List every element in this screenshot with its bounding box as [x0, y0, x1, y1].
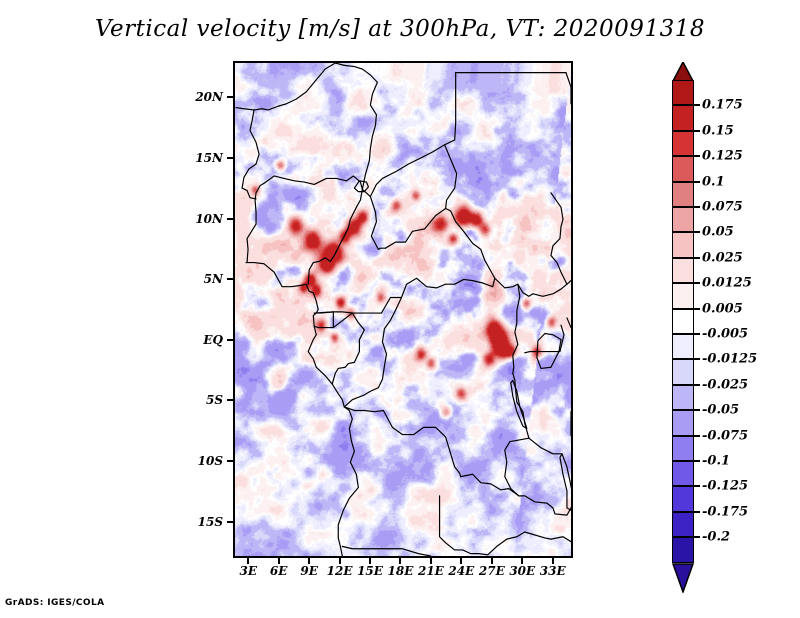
- country-border-path: [362, 69, 377, 189]
- country-borders-overlay: [235, 63, 571, 556]
- country-border-path: [511, 380, 527, 428]
- colorbar-tick-mark: [694, 384, 700, 386]
- colorbar-bin: [672, 385, 694, 410]
- x-axis-tick-mark: [521, 558, 523, 564]
- country-border-path: [332, 313, 364, 384]
- country-border-path: [381, 209, 494, 314]
- country-border-path: [264, 176, 362, 189]
- colorbar-tick-label: 0.025: [702, 250, 743, 265]
- colorbar-bin: [672, 156, 694, 181]
- x-axis-tick-mark: [552, 558, 554, 564]
- colorbar-tick-label: -0.125: [702, 479, 748, 494]
- colorbar-tick-label: -0.075: [702, 428, 748, 443]
- colorbar-tick-label: 0.1: [702, 174, 725, 189]
- x-axis-tick-label: 12E: [327, 564, 353, 578]
- country-border-path: [529, 438, 562, 454]
- colorbar-tick-label: -0.025: [702, 377, 748, 392]
- colorbar-tick-label: -0.2: [702, 530, 730, 545]
- x-axis-tick-label: 6E: [270, 564, 288, 578]
- colorbar-bin: [672, 207, 694, 232]
- country-border-path: [551, 537, 571, 542]
- country-border-path: [461, 474, 555, 514]
- colorbar-tick-mark: [694, 308, 700, 310]
- colorbar-tick-mark: [694, 181, 700, 183]
- x-axis-tick-label: 27E: [479, 564, 505, 578]
- colorbar-top-arrow: [672, 62, 694, 82]
- colorbar-tick-label: 0.005: [702, 301, 743, 316]
- colorbar-tick-mark: [694, 130, 700, 132]
- country-border-path: [551, 193, 567, 284]
- colorbar-bin: [672, 283, 694, 308]
- y-axis-tick-label: EQ: [195, 333, 223, 347]
- colorbar-tick-label: -0.005: [702, 327, 748, 342]
- colorbar-bin: [672, 182, 694, 207]
- x-axis-tick-mark: [369, 558, 371, 564]
- country-border-path: [525, 325, 564, 353]
- footer-credit: GrADS: IGES/COLA: [5, 598, 105, 608]
- colorbar-tick-label: -0.0125: [702, 352, 757, 367]
- x-axis-tick-mark: [247, 558, 249, 564]
- colorbar-bin: [672, 537, 694, 562]
- colorbar-tick-label: 0.175: [702, 98, 743, 113]
- country-border-path: [445, 145, 457, 209]
- colorbar-bin: [672, 359, 694, 384]
- colorbar-tick-mark: [694, 409, 700, 411]
- colorbar-tick-mark: [694, 333, 700, 335]
- colorbar: 0.1750.150.1250.10.0750.050.0250.01250.0…: [672, 62, 792, 562]
- x-axis-tick-mark: [460, 558, 462, 564]
- x-axis-tick-label: 33E: [540, 564, 566, 578]
- y-axis-tick-label: 15S: [195, 515, 223, 529]
- y-axis-tick-mark: [227, 521, 233, 523]
- colorbar-tick-mark: [694, 536, 700, 538]
- x-axis-tick-mark: [278, 558, 280, 564]
- country-border-path: [242, 110, 259, 199]
- y-axis-tick-mark: [227, 218, 233, 220]
- y-axis-tick-label: 10N: [195, 212, 223, 226]
- country-border-path: [495, 278, 533, 296]
- colorbar-tick-label: -0.1: [702, 454, 730, 469]
- x-axis-tick-label: 15E: [357, 564, 383, 578]
- colorbar-bin: [672, 80, 694, 105]
- y-axis-tick-mark: [227, 278, 233, 280]
- x-axis-tick-mark: [339, 558, 341, 564]
- y-axis-tick-label: 10S: [195, 454, 223, 468]
- x-axis-tick-label: 30E: [509, 564, 535, 578]
- colorbar-tick-mark: [694, 485, 700, 487]
- colorbar-tick-mark: [694, 460, 700, 462]
- x-axis-tick-mark: [399, 558, 401, 564]
- y-axis-tick-label: 5N: [195, 272, 223, 286]
- colorbar-tick-mark: [694, 282, 700, 284]
- colorbar-tick-mark: [694, 511, 700, 513]
- y-axis-tick-mark: [227, 96, 233, 98]
- country-border-path: [308, 189, 362, 284]
- country-border-path: [567, 318, 571, 328]
- colorbar-tick-label: 0.05: [702, 225, 734, 240]
- x-axis-tick-mark: [491, 558, 493, 564]
- colorbar-tick-label: -0.05: [702, 403, 739, 418]
- colorbar-tick-mark: [694, 104, 700, 106]
- colorbar-tick-mark: [694, 231, 700, 233]
- colorbar-tick-label: -0.175: [702, 504, 748, 519]
- colorbar-tick-mark: [694, 206, 700, 208]
- y-axis-tick-mark: [227, 339, 233, 341]
- colorbar-bottom-arrow: [672, 563, 694, 593]
- x-axis-tick-label: 21E: [418, 564, 444, 578]
- colorbar-tick-mark: [694, 155, 700, 157]
- country-border-path: [370, 73, 455, 197]
- x-axis-tick-label: 9E: [300, 564, 318, 578]
- country-border-path: [344, 65, 362, 69]
- colorbar-tick-mark: [694, 358, 700, 360]
- country-border-path: [342, 546, 430, 556]
- x-axis-tick-label: 18E: [388, 564, 414, 578]
- y-axis-tick-mark: [227, 157, 233, 159]
- country-border-path: [344, 407, 460, 477]
- country-border-path: [314, 312, 333, 328]
- country-border-path: [533, 284, 567, 296]
- x-axis-tick-label: 3E: [239, 564, 257, 578]
- colorbar-bin: [672, 410, 694, 435]
- colorbar-bin: [672, 436, 694, 461]
- colorbar-bin: [672, 461, 694, 486]
- colorbar-bin: [672, 334, 694, 359]
- colorbar-tick-label: 0.075: [702, 200, 743, 215]
- x-axis-tick-mark: [308, 558, 310, 564]
- colorbar-tick-label: 0.15: [702, 123, 734, 138]
- country-border-path: [567, 281, 571, 285]
- x-axis-tick-label: 24E: [448, 564, 474, 578]
- colorbar-bin: [672, 232, 694, 257]
- country-border-path: [246, 263, 358, 556]
- colorbar-bin: [672, 512, 694, 537]
- map-plot-area: [233, 61, 573, 558]
- chart-root: Vertical velocity [m/s] at 300hPa, VT: 2…: [0, 0, 800, 618]
- country-border-path: [560, 454, 571, 510]
- page-title: Vertical velocity [m/s] at 300hPa, VT: 2…: [0, 16, 800, 42]
- y-axis-tick-label: 20N: [195, 90, 223, 104]
- colorbar-bin: [672, 258, 694, 283]
- colorbar-tick-mark: [694, 257, 700, 259]
- colorbar-bin: [672, 131, 694, 156]
- colorbar-tick-label: 0.0125: [702, 276, 752, 291]
- country-border-path: [566, 73, 571, 87]
- y-axis-tick-mark: [227, 399, 233, 401]
- country-border-path: [236, 63, 344, 110]
- colorbar-bin: [672, 105, 694, 130]
- colorbar-bin: [672, 309, 694, 334]
- country-border-path: [440, 496, 551, 555]
- colorbar-tick-label: 0.125: [702, 149, 743, 164]
- country-border-path: [362, 189, 385, 249]
- x-axis-tick-mark: [430, 558, 432, 564]
- colorbar-tick-mark: [694, 435, 700, 437]
- y-axis-tick-mark: [227, 460, 233, 462]
- y-axis-tick-label: 5S: [195, 393, 223, 407]
- y-axis-tick-label: 15N: [195, 151, 223, 165]
- colorbar-bin: [672, 486, 694, 511]
